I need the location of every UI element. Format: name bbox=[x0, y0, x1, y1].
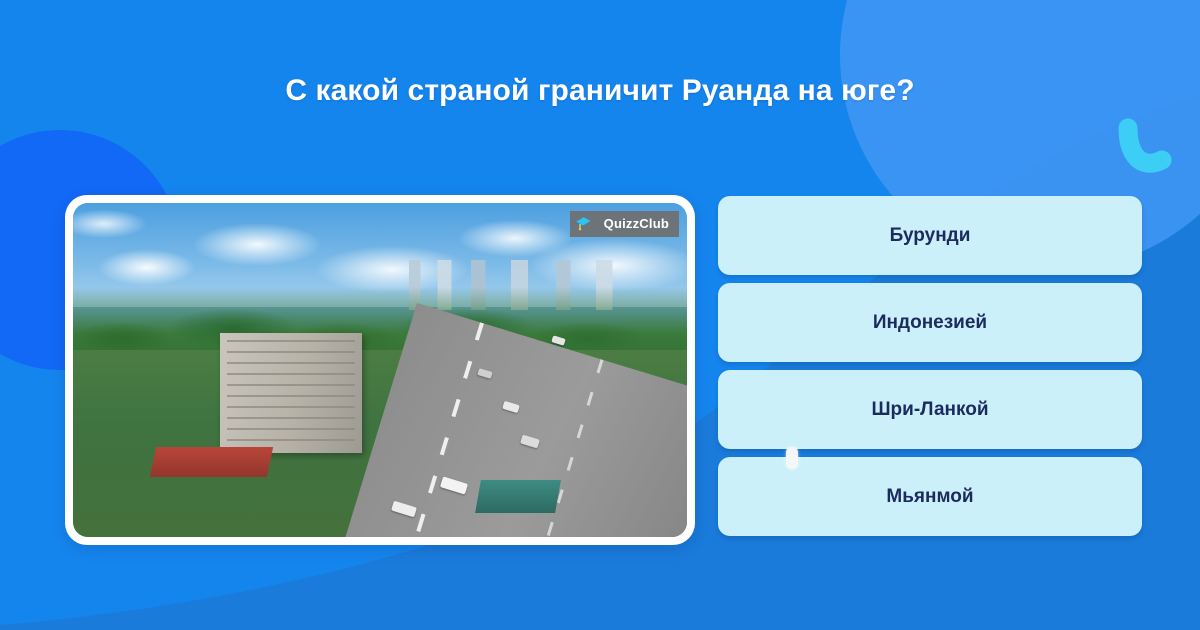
answer-options-list: Бурунди Индонезией Шри-Ланкой Мьянмой bbox=[718, 196, 1142, 536]
question-image-card: QuizzClub bbox=[65, 195, 695, 545]
text-cursor bbox=[786, 447, 798, 469]
answer-option-1[interactable]: Бурунди bbox=[718, 196, 1142, 275]
answer-option-3[interactable]: Шри-Ланкой bbox=[718, 370, 1142, 449]
photo-green-roof bbox=[475, 480, 561, 513]
photo-building-tower bbox=[220, 333, 361, 453]
question-image: QuizzClub bbox=[73, 203, 687, 537]
graduation-cap-icon bbox=[570, 211, 596, 237]
answer-option-2[interactable]: Индонезией bbox=[718, 283, 1142, 362]
watermark-label: QuizzClub bbox=[596, 211, 679, 237]
photo-red-roof bbox=[150, 447, 273, 477]
question-title: С какой страной граничит Руанда на юге? bbox=[0, 74, 1200, 108]
photo-illustration bbox=[73, 203, 687, 537]
answer-option-4[interactable]: Мьянмой bbox=[718, 457, 1142, 536]
watermark: QuizzClub bbox=[570, 211, 679, 237]
